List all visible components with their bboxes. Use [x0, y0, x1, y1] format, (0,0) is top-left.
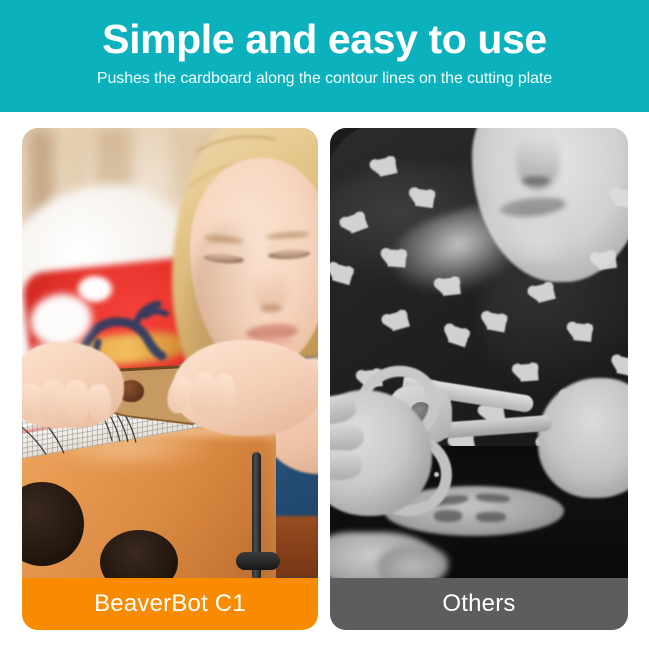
header-banner: Simple and easy to use Pushes the cardbo…	[0, 0, 649, 112]
paper-scrap	[378, 546, 448, 578]
page-subtitle: Pushes the cardboard along the contour l…	[0, 69, 649, 89]
comparison-panel-others: Others	[330, 128, 628, 630]
device-foot	[236, 552, 280, 570]
heart-motif	[615, 189, 628, 209]
others-photo	[330, 128, 628, 578]
eyelid	[202, 244, 246, 260]
panel-label-beaverbot: BeaverBot C1	[94, 590, 246, 618]
panel-label-band-others: Others	[330, 578, 628, 630]
panel-label-band-beaverbot: BeaverBot C1	[22, 578, 318, 630]
heart-motif	[441, 277, 461, 296]
nostril	[522, 176, 550, 186]
cushion-highlight	[78, 276, 112, 302]
heart-motif	[519, 363, 538, 381]
beaverbot-photo	[22, 128, 318, 578]
heart-motif	[573, 323, 593, 342]
eyelid	[266, 240, 310, 256]
page-title: Simple and easy to use	[0, 16, 649, 62]
comparison-panel-beaverbot: BeaverBot C1	[22, 128, 318, 630]
finger	[64, 380, 90, 424]
nostril	[260, 304, 282, 312]
infographic-root: Simple and easy to use Pushes the cardbo…	[0, 0, 649, 649]
paper-marking	[476, 512, 506, 522]
panel-label-others: Others	[442, 590, 515, 618]
heart-motif	[487, 313, 508, 333]
heart-motif	[597, 251, 617, 270]
heart-motif	[387, 249, 406, 267]
paper-marking	[434, 510, 462, 522]
heart-motif	[415, 189, 435, 208]
